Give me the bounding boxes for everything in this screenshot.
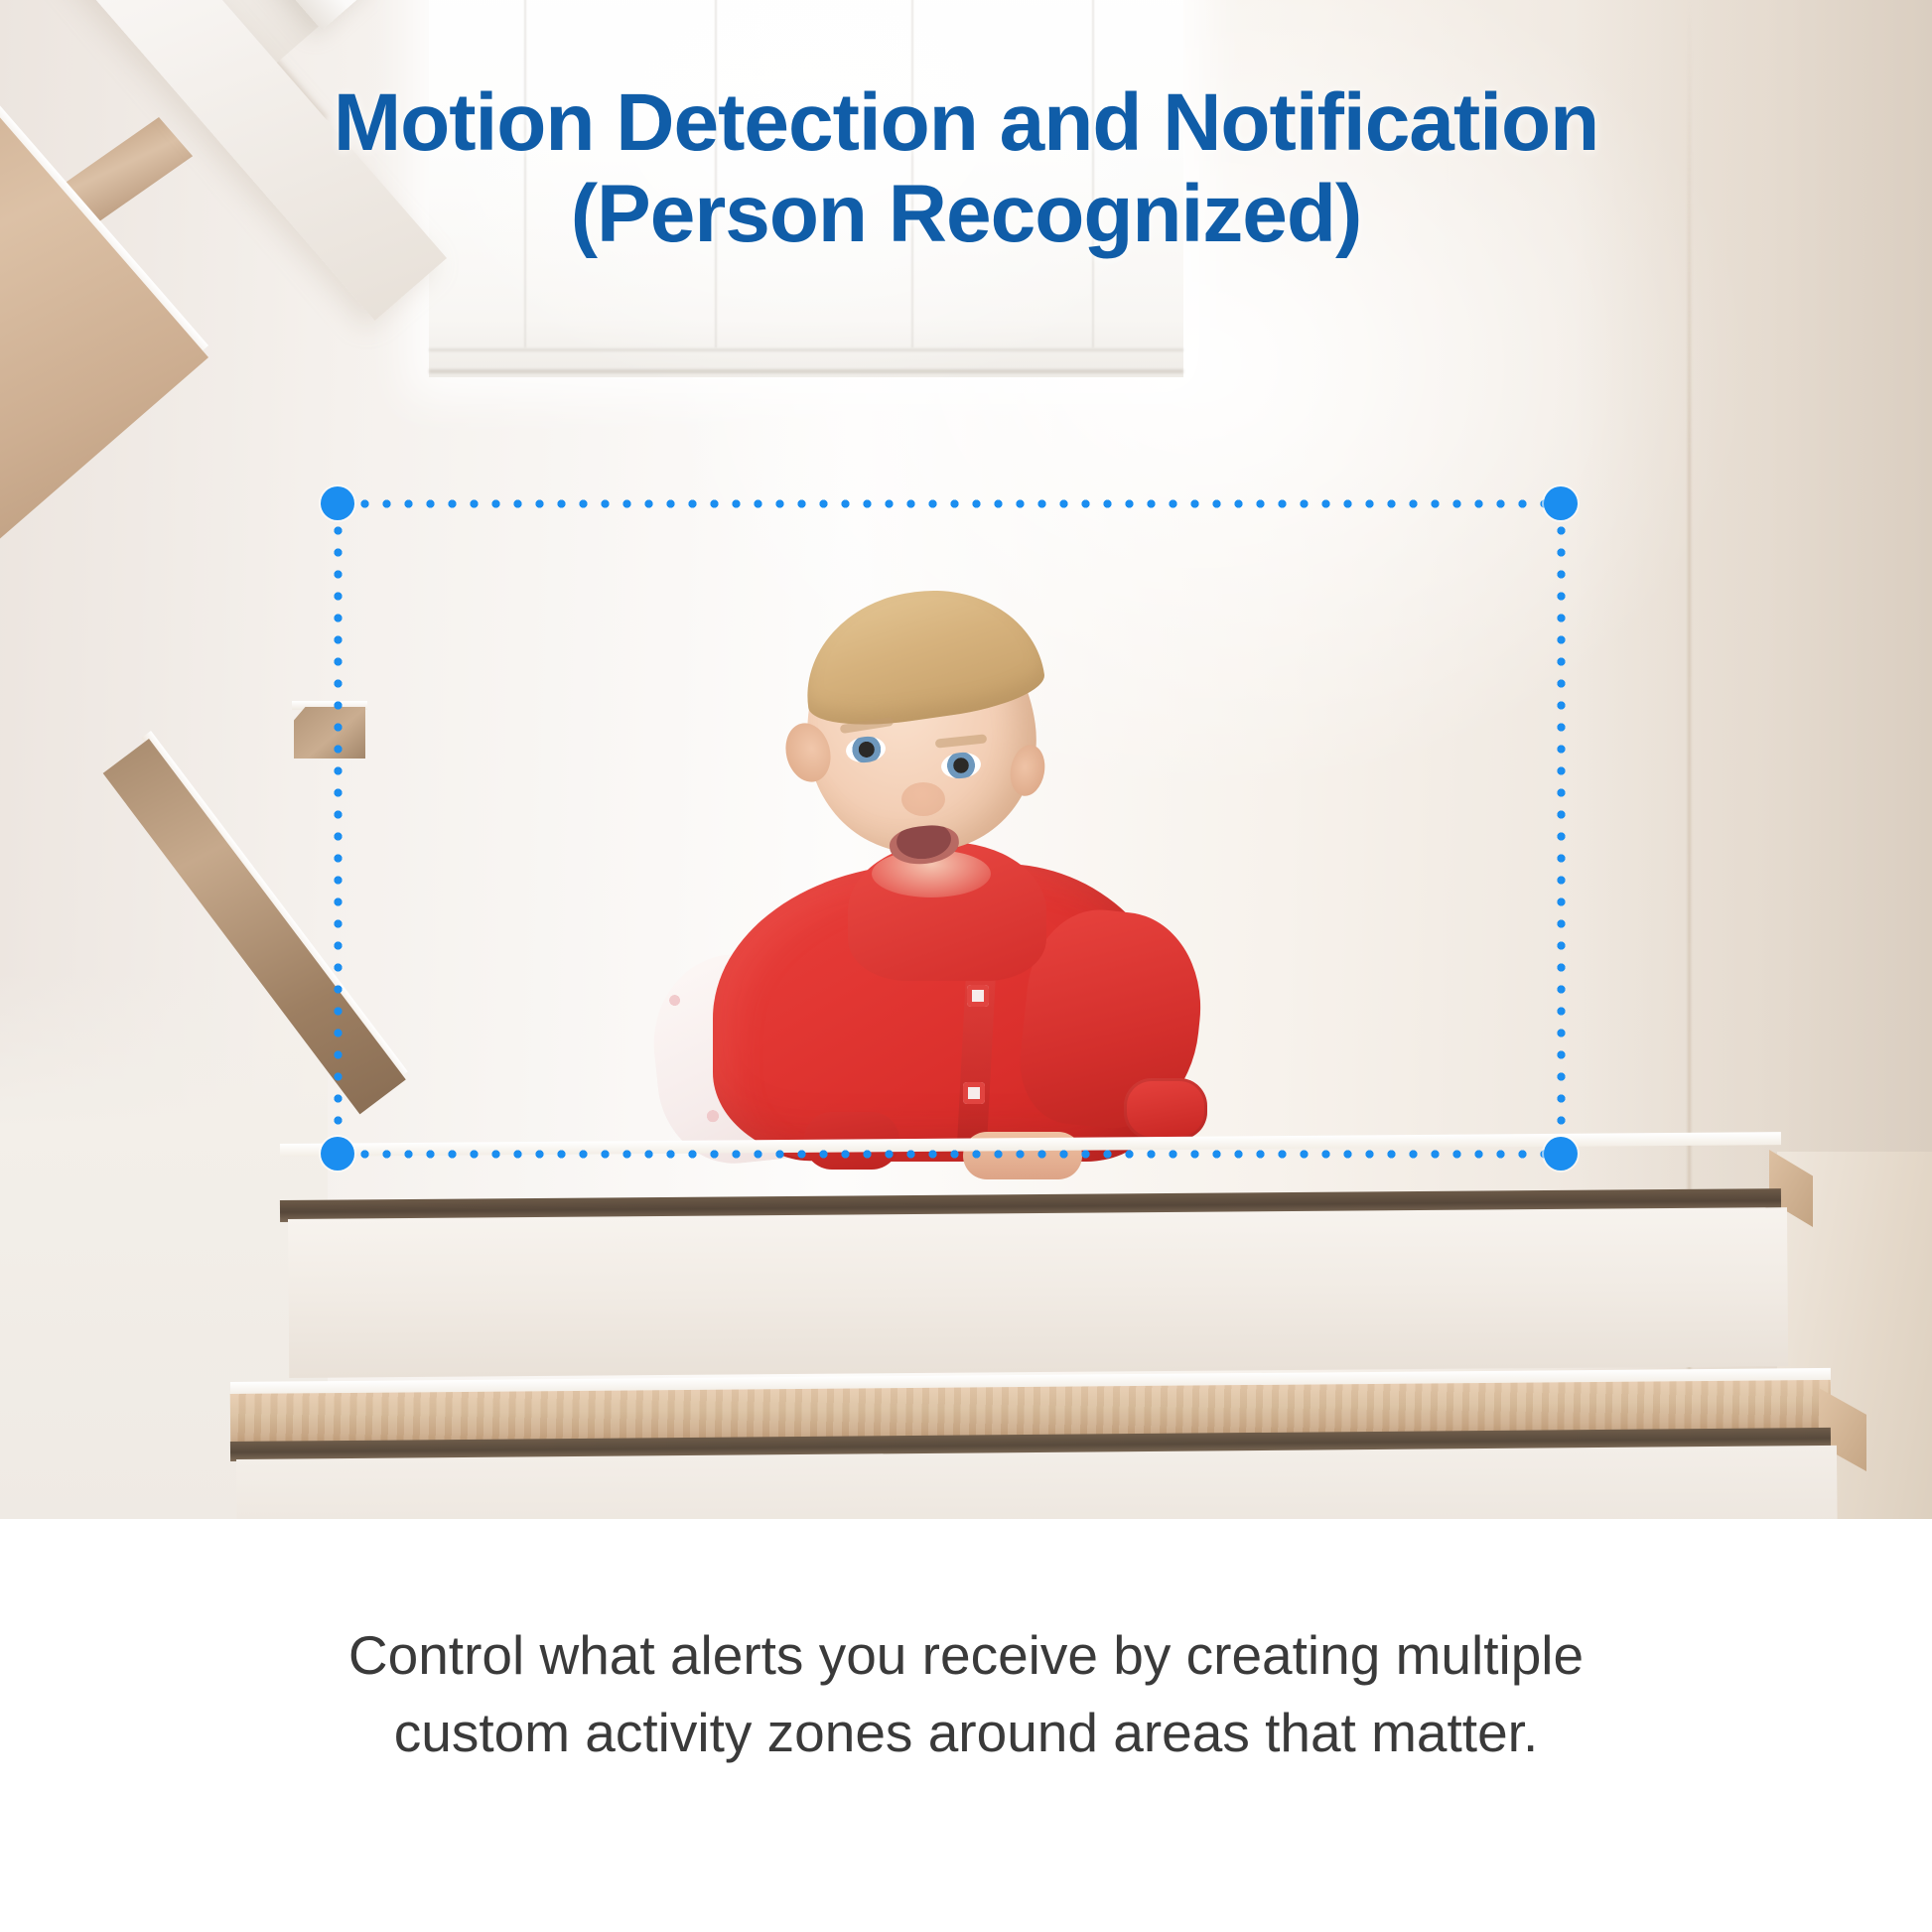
zone-border-bottom: [338, 1149, 1561, 1160]
blind-scallop-edge: [429, 0, 1183, 6]
zone-handle-bottom-left[interactable]: [321, 1137, 354, 1171]
zone-border-right: [1556, 503, 1567, 1154]
promo-card: Motion Detection and Notification (Perso…: [0, 0, 1932, 1932]
scene-photo: Motion Detection and Notification (Perso…: [0, 0, 1932, 1519]
activity-zone-box[interactable]: [338, 503, 1561, 1154]
zone-border-left: [333, 503, 344, 1154]
blind-hem: [429, 348, 1183, 351]
promo-caption-area: Control what alerts you receive by creat…: [0, 1519, 1932, 1932]
promo-title-line-1: Motion Detection and Notification: [334, 77, 1598, 168]
promo-title-line-2: (Person Recognized): [0, 169, 1932, 260]
blind-hem: [429, 369, 1183, 373]
promo-caption-text: Control what alerts you receive by creat…: [0, 1519, 1932, 1771]
zone-border-top: [338, 498, 1561, 509]
zone-handle-top-right[interactable]: [1544, 486, 1578, 520]
zone-handle-bottom-right[interactable]: [1544, 1137, 1578, 1171]
stair-riser-2: [236, 1446, 1838, 1519]
promo-title: Motion Detection and Notification (Perso…: [0, 77, 1932, 260]
zone-handle-top-left[interactable]: [321, 486, 354, 520]
stair-riser-1: [288, 1207, 1788, 1378]
